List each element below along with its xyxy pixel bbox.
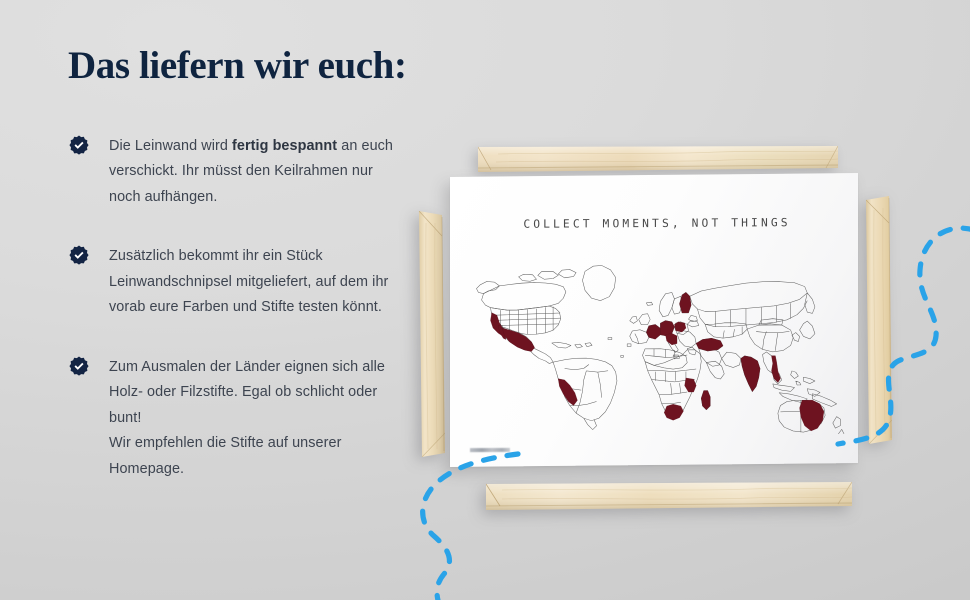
highlighted-countries (491, 292, 824, 433)
top-stretcher-bar (478, 146, 838, 172)
bottom-stretcher-bar (486, 482, 852, 510)
left-stretcher-bar (418, 211, 445, 457)
canvas-print: COLLECT MOMENTS, NOT THINGS (450, 173, 858, 467)
world-map-illustration (462, 252, 846, 436)
dashed-curve-bottom-left (382, 452, 532, 600)
product-mockup: COLLECT MOMENTS, NOT THINGS (0, 0, 970, 600)
dashed-curve-right (846, 212, 970, 480)
canvas-slogan: COLLECT MOMENTS, NOT THINGS (453, 216, 861, 231)
